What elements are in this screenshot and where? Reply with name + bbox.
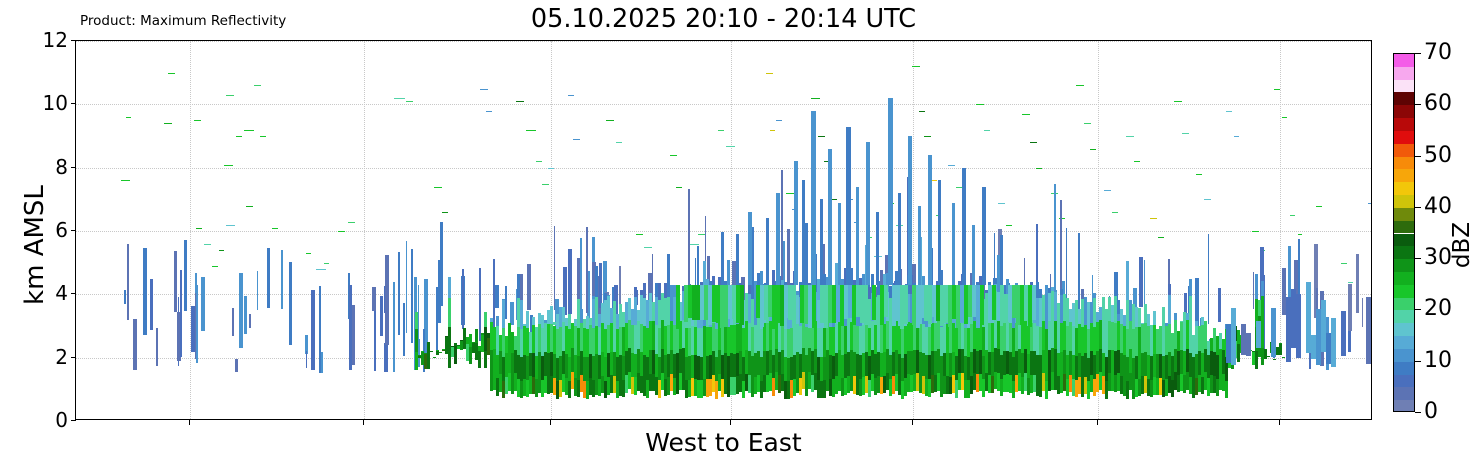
reflectivity-cell (433, 357, 436, 358)
x-axis-tick-mark (1097, 420, 1098, 425)
colorbar-tick-label: 60 (1424, 93, 1452, 115)
reflectivity-cell (1348, 282, 1353, 283)
reflectivity-cell (606, 120, 614, 121)
reflectivity-cell (928, 155, 932, 285)
reflectivity-cell (542, 184, 549, 185)
colorbar[interactable] (1393, 53, 1415, 412)
colorbar-axis-label: dBZ (1449, 155, 1475, 335)
reflectivity-cell (1261, 296, 1264, 325)
reflectivity-cell (812, 285, 816, 329)
reflectivity-cell (239, 273, 243, 348)
plot-area[interactable] (75, 40, 1372, 420)
reflectivity-cell (1264, 349, 1267, 359)
colorbar-tick-label: 30 (1424, 247, 1452, 269)
reflectivity-cell (846, 127, 851, 285)
reflectivity-cell (644, 247, 652, 248)
reflectivity-cell (393, 282, 395, 372)
reflectivity-cell (573, 139, 580, 140)
colorbar-band (1394, 105, 1414, 118)
reflectivity-cell (191, 306, 195, 352)
reflectivity-cell (493, 259, 495, 327)
colorbar-band (1394, 246, 1414, 259)
reflectivity-cell (448, 298, 451, 327)
reflectivity-cell (194, 120, 201, 121)
reflectivity-cell (776, 120, 782, 121)
reflectivity-cell (1234, 136, 1239, 137)
reflectivity-cell (972, 225, 975, 285)
colorbar-band (1394, 323, 1414, 336)
reflectivity-cell (1226, 111, 1232, 112)
reflectivity-cell (1204, 199, 1211, 200)
reflectivity-cell (321, 352, 323, 373)
colorbar-band (1394, 349, 1414, 362)
reflectivity-cell (421, 351, 424, 352)
colorbar-band (1394, 285, 1414, 298)
reflectivity-cell (1290, 215, 1295, 216)
reflectivity-cell (406, 241, 407, 333)
reflectivity-cell (316, 269, 326, 270)
reflectivity-cell (912, 66, 920, 67)
reflectivity-cell (505, 286, 507, 319)
reflectivity-cell (406, 101, 413, 102)
colorbar-band (1394, 221, 1414, 234)
reflectivity-cell (272, 228, 278, 229)
reflectivity-cell (550, 306, 553, 323)
reflectivity-cell (1246, 333, 1251, 356)
reflectivity-cell (1274, 89, 1280, 90)
colorbar-band (1394, 362, 1414, 375)
reflectivity-cell (224, 165, 233, 166)
colorbar-tick-label: 40 (1424, 196, 1452, 218)
reflectivity-cell (249, 314, 251, 328)
reflectivity-cell (219, 250, 224, 251)
reflectivity-cell (982, 187, 986, 285)
reflectivity-cell (212, 266, 218, 267)
chart-title: 05.10.2025 20:10 - 20:14 UTC (75, 4, 1372, 34)
reflectivity-cell (1348, 284, 1352, 331)
reflectivity-cell (448, 277, 451, 298)
reflectivity-cell (1368, 203, 1372, 204)
x-axis-tick-mark (730, 420, 731, 425)
reflectivity-cell (1168, 295, 1171, 324)
reflectivity-cell (403, 303, 405, 356)
reflectivity-cell (643, 283, 646, 297)
colorbar-tick-label: 0 (1424, 401, 1438, 423)
reflectivity-cell (568, 95, 574, 96)
colorbar-tick-mark (1415, 156, 1421, 157)
reflectivity-cell (568, 249, 572, 314)
colorbar-band (1394, 182, 1414, 195)
y-axis-tick-mark (71, 293, 76, 294)
reflectivity-cell (820, 199, 823, 285)
reflectivity-cell (1112, 212, 1118, 213)
reflectivity-cell (636, 234, 643, 235)
x-axis-tick-mark (550, 420, 551, 425)
reflectivity-cell (267, 248, 270, 308)
reflectivity-cell (418, 285, 419, 345)
reflectivity-cell (766, 73, 773, 74)
reflectivity-cell (984, 130, 990, 131)
reflectivity-cell (866, 142, 870, 285)
reflectivity-cell (1036, 224, 1038, 283)
reflectivity-cell (398, 252, 400, 335)
reflectivity-cell (226, 225, 235, 226)
reflectivity-cell (156, 328, 158, 366)
reflectivity-cell (1104, 190, 1111, 191)
reflectivity-cell (1231, 308, 1236, 365)
reflectivity-cell (324, 263, 329, 264)
reflectivity-cell (1282, 117, 1287, 118)
reflectivity-cell (607, 295, 610, 297)
reflectivity-cell (888, 98, 893, 285)
reflectivity-cell (495, 285, 499, 308)
colorbar-band (1394, 80, 1414, 93)
reflectivity-cell (532, 317, 535, 325)
reflectivity-cell (430, 351, 433, 352)
x-axis-tick-mark (189, 420, 190, 425)
reflectivity-cell (1060, 200, 1062, 289)
reflectivity-cell (1030, 142, 1037, 143)
reflectivity-cell (502, 299, 505, 300)
reflectivity-cell (726, 146, 735, 147)
reflectivity-cell (1255, 274, 1258, 299)
reflectivity-cell (818, 136, 825, 137)
reflectivity-cell (811, 98, 820, 99)
reflectivity-cell (1256, 321, 1261, 349)
reflectivity-cell (1264, 349, 1267, 350)
reflectivity-cell (246, 206, 253, 207)
reflectivity-cell (232, 308, 234, 336)
reflectivity-cell (1153, 311, 1156, 325)
reflectivity-cell (1054, 184, 1056, 290)
reflectivity-cell (1168, 284, 1171, 295)
colorbar-tick-mark (1415, 207, 1421, 208)
reflectivity-cell (992, 285, 996, 320)
reflectivity-cell (1182, 133, 1189, 134)
reflectivity-cell (372, 287, 376, 311)
reflectivity-cell (475, 329, 478, 343)
x-axis-tick-mark (363, 420, 364, 425)
reflectivity-cell (1252, 231, 1259, 232)
reflectivity-cell (1273, 359, 1276, 360)
reflectivity-cell (319, 286, 321, 373)
reflectivity-cell (884, 285, 888, 318)
reflectivity-cell (480, 89, 488, 90)
reflectivity-cell (792, 285, 796, 329)
reflectivity-cell (527, 264, 531, 310)
reflectivity-cell (1054, 290, 1057, 292)
reflectivity-cell (520, 274, 523, 300)
y-axis-tick-mark (71, 230, 76, 231)
reflectivity-cell (411, 249, 413, 343)
y-axis-tick-mark (71, 103, 76, 104)
reflectivity-cell (856, 187, 859, 285)
reflectivity-cell (948, 165, 955, 166)
colorbar-tick-mark (1415, 361, 1421, 362)
reflectivity-cell (1316, 206, 1322, 207)
reflectivity-cell (688, 189, 690, 283)
reflectivity-cell (634, 287, 637, 297)
colorbar-tick-mark (1415, 309, 1421, 310)
reflectivity-data-layer (76, 41, 1371, 419)
reflectivity-cell (554, 226, 555, 310)
reflectivity-cell (1093, 293, 1096, 298)
colorbar-band (1394, 336, 1414, 349)
reflectivity-cell (786, 193, 794, 194)
reflectivity-cell (150, 279, 153, 331)
colorbar-band (1394, 54, 1414, 67)
reflectivity-cell (195, 293, 196, 359)
reflectivity-cell (1000, 285, 1004, 318)
colorbar-tick-mark (1415, 412, 1421, 413)
reflectivity-cell (976, 104, 984, 105)
reflectivity-cell (352, 305, 355, 365)
reflectivity-cell (1341, 311, 1346, 356)
reflectivity-cell (1208, 234, 1209, 325)
reflectivity-cell (876, 212, 879, 285)
reflectivity-cell (740, 285, 744, 325)
reflectivity-cell (938, 180, 941, 285)
reflectivity-cell (962, 168, 966, 285)
reflectivity-cell (415, 312, 418, 329)
reflectivity-cell (904, 285, 908, 324)
reflectivity-cell (436, 350, 439, 351)
reflectivity-cell (1296, 294, 1301, 357)
reflectivity-cell (1279, 343, 1282, 344)
reflectivity-cell (439, 352, 442, 353)
reflectivity-cell (260, 136, 266, 137)
colorbar-tick-label: 70 (1424, 42, 1452, 64)
reflectivity-cell (235, 359, 238, 372)
radar-cross-section-figure: Product: Maximum Reflectivity 05.10.2025… (0, 0, 1482, 470)
colorbar-band (1394, 310, 1414, 323)
reflectivity-cell (748, 212, 752, 285)
reflectivity-cell (919, 111, 925, 112)
reflectivity-cell (1218, 288, 1221, 322)
reflectivity-cell (1032, 285, 1036, 320)
reflectivity-cell (394, 98, 405, 99)
reflectivity-cell (236, 136, 242, 137)
reflectivity-cell (348, 222, 355, 223)
reflectivity-cell (204, 244, 211, 245)
reflectivity-cell (201, 277, 205, 331)
colorbar-band (1394, 400, 1414, 412)
reflectivity-cell (516, 101, 524, 102)
colorbar-band (1394, 169, 1414, 182)
reflectivity-cell (832, 199, 837, 200)
x-axis-tick-mark (1279, 420, 1280, 425)
colorbar-tick-label: 20 (1424, 298, 1452, 320)
reflectivity-cell (1261, 324, 1264, 348)
reflectivity-cell (1196, 174, 1202, 175)
y-axis-tick-mark (71, 40, 76, 41)
reflectivity-cell (586, 227, 588, 313)
colorbar-band (1394, 272, 1414, 285)
reflectivity-cell (281, 250, 283, 309)
reflectivity-cell (180, 285, 182, 357)
reflectivity-cell (244, 296, 247, 334)
reflectivity-cell (1331, 318, 1336, 367)
reflectivity-cell (1356, 254, 1359, 314)
reflectivity-cell (1267, 356, 1270, 357)
reflectivity-cell (918, 206, 921, 285)
reflectivity-cell (1150, 218, 1157, 219)
reflectivity-cell (1282, 357, 1285, 358)
reflectivity-cell (164, 123, 172, 124)
reflectivity-cell (838, 203, 841, 285)
colorbar-band (1394, 157, 1414, 170)
reflectivity-cell (1078, 233, 1080, 309)
colorbar-band (1394, 208, 1414, 221)
colorbar-band (1394, 131, 1414, 144)
reflectivity-cell (1076, 85, 1084, 86)
x-axis-tick-mark (912, 420, 913, 425)
reflectivity-cell (385, 255, 389, 345)
reflectivity-cell (781, 170, 783, 280)
reflectivity-cell (311, 290, 315, 370)
reflectivity-cell (1090, 149, 1096, 150)
colorbar-tick-mark (1415, 53, 1421, 54)
reflectivity-cell (736, 234, 739, 285)
reflectivity-cell (864, 285, 868, 325)
reflectivity-cell (478, 351, 481, 368)
colorbar-band (1394, 298, 1414, 311)
reflectivity-cell (438, 260, 441, 323)
colorbar-band (1394, 259, 1414, 272)
colorbar-band (1394, 118, 1414, 131)
reflectivity-cell (536, 161, 542, 162)
reflectivity-cell (184, 240, 187, 311)
reflectivity-cell (306, 351, 307, 368)
reflectivity-cell (349, 285, 352, 371)
reflectivity-cell (462, 269, 464, 330)
reflectivity-cell (872, 285, 876, 320)
reflectivity-cell (1298, 234, 1302, 235)
reflectivity-cell (1271, 308, 1276, 357)
reflectivity-cell (510, 302, 514, 325)
reflectivity-cell (168, 73, 175, 74)
colorbar-band (1394, 53, 1414, 54)
x-axis-label: West to East (75, 428, 1372, 457)
colorbar-band (1394, 387, 1414, 400)
reflectivity-cell (1174, 101, 1182, 102)
reflectivity-cell (1174, 313, 1177, 321)
reflectivity-cell (484, 312, 487, 327)
colorbar-band (1394, 195, 1414, 208)
y-axis-tick-label: 10 (12, 93, 68, 113)
colorbar-tick-label: 50 (1424, 145, 1452, 167)
reflectivity-cell (133, 319, 137, 370)
reflectivity-cell (770, 130, 775, 131)
colorbar-band (1394, 375, 1414, 388)
reflectivity-cell (486, 111, 492, 112)
reflectivity-cell (924, 136, 931, 137)
reflectivity-cell (908, 136, 912, 285)
reflectivity-cell (776, 193, 780, 285)
reflectivity-cell (1134, 161, 1140, 162)
reflectivity-cell (595, 266, 598, 297)
reflectivity-cell (1139, 257, 1143, 307)
reflectivity-cell (952, 203, 955, 285)
reflectivity-cell (124, 290, 126, 304)
reflectivity-cell (126, 117, 131, 118)
reflectivity-cell (1225, 381, 1228, 398)
reflectivity-cell (244, 130, 254, 131)
reflectivity-cell (811, 111, 816, 285)
reflectivity-cell (1371, 296, 1372, 367)
reflectivity-cell (599, 263, 602, 308)
reflectivity-cell (1006, 225, 1012, 226)
reflectivity-cell (196, 228, 202, 229)
reflectivity-cell (415, 329, 418, 353)
colorbar-band (1394, 67, 1414, 80)
colorbar-tick-label: 10 (1424, 350, 1452, 372)
reflectivity-cell (121, 180, 130, 181)
reflectivity-cell (980, 285, 984, 326)
reflectivity-cell (794, 161, 798, 285)
y-axis-label: km AMSL (20, 115, 50, 375)
reflectivity-cell (649, 289, 652, 293)
reflectivity-cell (226, 95, 234, 96)
reflectivity-cell (802, 180, 805, 285)
reflectivity-cell (1158, 237, 1164, 238)
reflectivity-cell (526, 311, 529, 327)
colorbar-band (1394, 92, 1414, 105)
reflectivity-cell (496, 316, 499, 326)
reflectivity-cell (998, 203, 1005, 204)
reflectivity-cell (1126, 261, 1129, 300)
reflectivity-cell (257, 271, 258, 310)
reflectivity-cell (1022, 114, 1030, 115)
reflectivity-cell (1126, 136, 1134, 137)
reflectivity-cell (436, 287, 438, 349)
y-axis-tick-label: 0 (12, 410, 68, 430)
reflectivity-cell (526, 130, 536, 131)
reflectivity-cell (434, 187, 442, 188)
reflectivity-cell (766, 218, 769, 285)
y-axis-tick-label: 12 (12, 30, 68, 50)
reflectivity-cell (384, 343, 388, 372)
reflectivity-cell (580, 238, 582, 310)
reflectivity-cell (1261, 281, 1264, 295)
reflectivity-cell (616, 142, 622, 143)
colorbar-band (1394, 144, 1414, 157)
reflectivity-cell (380, 296, 383, 336)
colorbar-band (1394, 234, 1414, 247)
reflectivity-cell (306, 253, 311, 254)
reflectivity-cell (127, 244, 129, 321)
reflectivity-cell (1036, 168, 1042, 169)
reflectivity-cell (690, 244, 699, 245)
reflectivity-cell (502, 300, 505, 329)
reflectivity-cell (1279, 343, 1282, 354)
reflectivity-cell (1341, 263, 1347, 264)
reflectivity-cell (196, 285, 198, 363)
reflectivity-cell (338, 231, 345, 232)
reflectivity-cell (1189, 279, 1192, 297)
reflectivity-cell (254, 85, 261, 86)
y-axis-tick-mark (71, 167, 76, 168)
reflectivity-cell (698, 234, 705, 235)
reflectivity-cell (676, 187, 682, 188)
reflectivity-cell (1348, 327, 1351, 352)
reflectivity-cell (479, 268, 481, 340)
colorbar-tick-mark (1415, 104, 1421, 105)
reflectivity-cell (1084, 123, 1091, 124)
y-axis-tick-mark (71, 420, 76, 421)
reflectivity-cell (442, 212, 448, 213)
reflectivity-cell (143, 248, 147, 335)
